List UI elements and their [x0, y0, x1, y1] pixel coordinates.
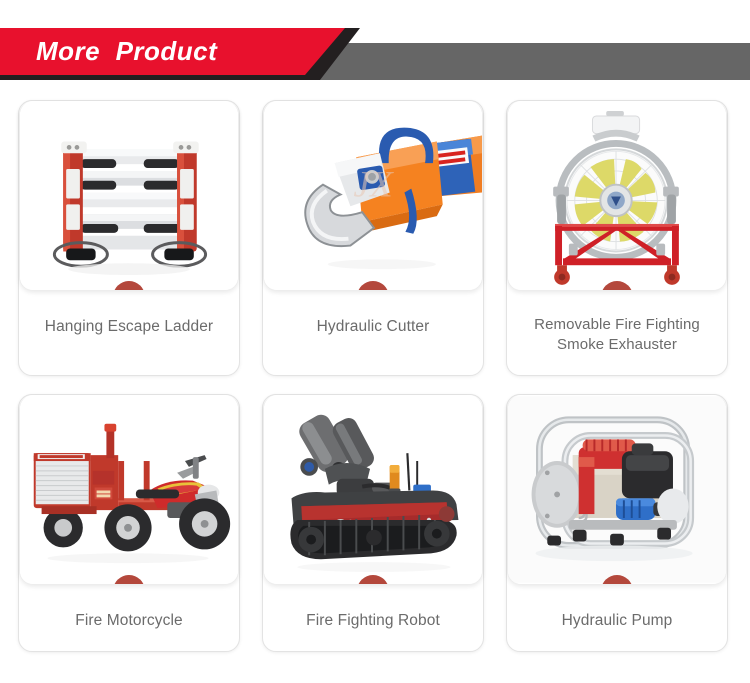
product-image-hydraulic-pump[interactable] — [507, 395, 727, 585]
product-label-smoke-exhauster: Removable Fire Fighting Smoke Exhauster — [507, 291, 727, 371]
cutter-illustration: JX — [264, 101, 482, 290]
svg-text:JX: JX — [353, 164, 394, 205]
chevron-down-icon — [609, 583, 625, 585]
header-banner: More Product — [0, 28, 750, 80]
smoke-exhauster-illustration — [508, 101, 726, 290]
product-card-hanging-escape-ladder[interactable]: Hanging Escape Ladder — [18, 100, 240, 376]
header-gray-bar — [300, 43, 750, 80]
product-image-hanging-escape-ladder[interactable] — [19, 101, 239, 291]
product-card-fire-fighting-robot[interactable]: Fire Fighting Robot — [262, 394, 484, 652]
product-label-fire-fighting-robot: Fire Fighting Robot — [263, 585, 483, 647]
product-label-hydraulic-pump: Hydraulic Pump — [507, 585, 727, 647]
product-card-removable-fire-fighting-smoke-exhauster[interactable]: Removable Fire Fighting Smoke Exhauster — [506, 100, 728, 376]
label-line: Hydraulic Cutter — [269, 317, 477, 337]
product-card-hydraulic-pump[interactable]: Hydraulic Pump — [506, 394, 728, 652]
page-title: More Product — [36, 28, 217, 75]
hydraulic-pump-illustration — [508, 395, 726, 584]
fire-motorcycle-illustration — [20, 395, 238, 584]
product-grid: Hanging Escape Ladder — [0, 100, 750, 652]
label-line: Smoke Exhauster — [513, 335, 721, 355]
label-line: Hydraulic Pump — [513, 611, 721, 631]
product-label-hanging-escape-ladder: Hanging Escape Ladder — [19, 291, 239, 353]
product-image-smoke-exhauster[interactable] — [507, 101, 727, 291]
fire-fighting-robot-illustration — [264, 395, 482, 584]
chevron-down-icon — [609, 289, 625, 291]
product-image-hydraulic-cutter[interactable]: JX — [263, 101, 483, 291]
label-line: Fire Motorcycle — [25, 611, 233, 631]
label-line: Removable Fire Fighting — [513, 315, 721, 335]
chevron-down-icon — [121, 289, 137, 291]
product-card-fire-motorcycle[interactable]: Fire Motorcycle — [18, 394, 240, 652]
product-image-fire-fighting-robot[interactable] — [263, 395, 483, 585]
product-label-hydraulic-cutter: Hydraulic Cutter — [263, 291, 483, 353]
chevron-down-icon — [365, 289, 381, 291]
chevron-down-icon — [121, 583, 137, 585]
label-line: Fire Fighting Robot — [269, 611, 477, 631]
product-card-hydraulic-cutter[interactable]: JX Hydraulic Cutter — [262, 100, 484, 376]
product-label-fire-motorcycle: Fire Motorcycle — [19, 585, 239, 647]
ladder-illustration — [20, 101, 238, 290]
page-root: More Product — [0, 0, 750, 683]
product-image-fire-motorcycle[interactable] — [19, 395, 239, 585]
chevron-down-icon — [365, 583, 381, 585]
label-line: Hanging Escape Ladder — [25, 317, 233, 337]
